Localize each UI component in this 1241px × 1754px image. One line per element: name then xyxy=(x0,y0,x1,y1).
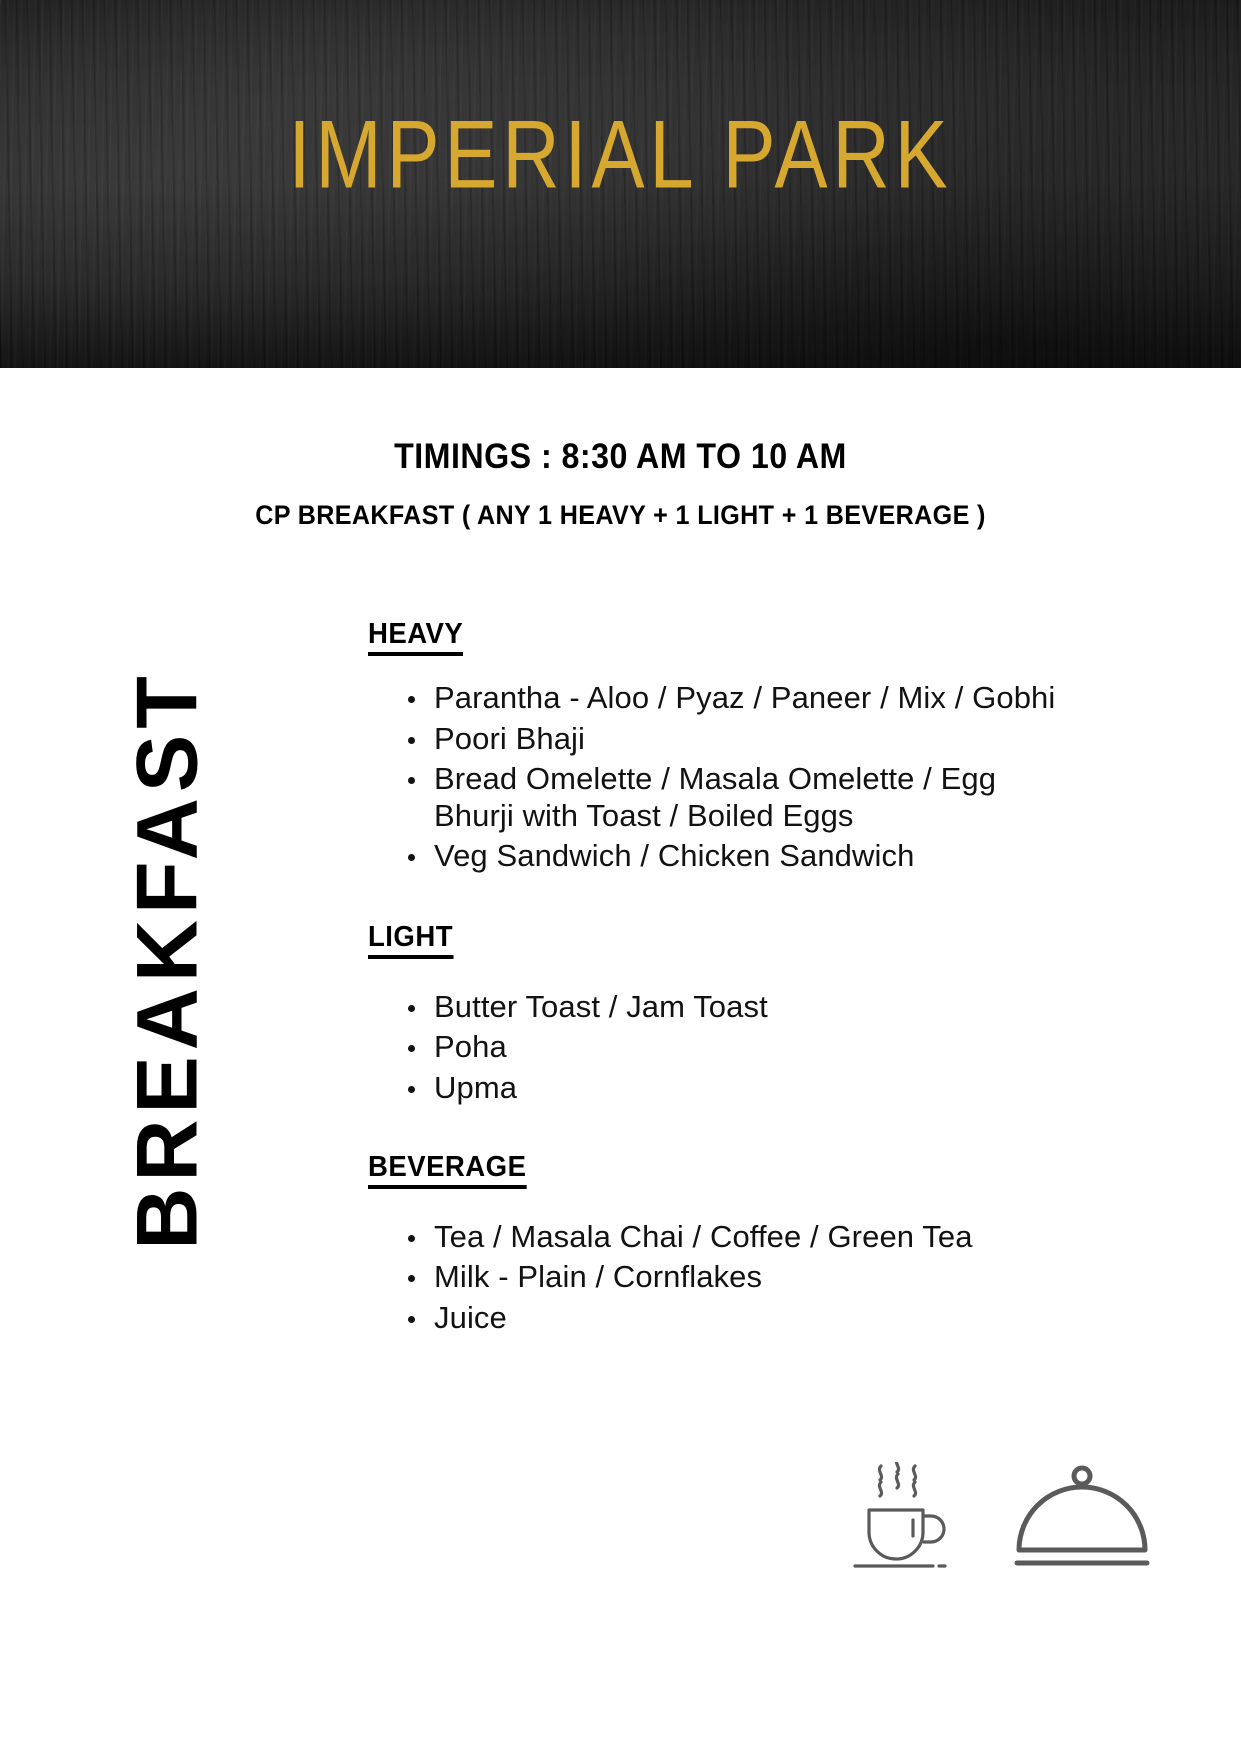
header-banner: IMPERIAL PARK xyxy=(0,0,1241,368)
cloche-food-dome-icon xyxy=(1011,1464,1153,1574)
item-list-heavy: Parantha - Aloo / Pyaz / Paneer / Mix / … xyxy=(368,680,1068,875)
item-list-light: Butter Toast / Jam Toast Poha Upma xyxy=(368,989,1068,1107)
list-item: Milk - Plain / Cornflakes xyxy=(402,1259,1068,1296)
section-heading-beverage: BEVERAGE xyxy=(368,1151,526,1189)
list-item: Poori Bhaji xyxy=(402,721,1068,758)
vertical-label-container: BREAKFAST xyxy=(108,630,228,1290)
section-heavy: HEAVY Parantha - Aloo / Pyaz / Paneer / … xyxy=(368,618,1068,875)
list-item: Veg Sandwich / Chicken Sandwich xyxy=(402,838,1068,875)
section-heading-heavy: HEAVY xyxy=(368,618,463,656)
list-item: Poha xyxy=(402,1029,1068,1066)
list-item: Upma xyxy=(402,1070,1068,1107)
coffee-cup-icon xyxy=(849,1462,949,1574)
item-list-beverage: Tea / Masala Chai / Coffee / Green Tea M… xyxy=(368,1219,1068,1337)
vertical-breakfast-label: BREAKFAST xyxy=(119,670,218,1250)
brand-title: IMPERIAL PARK xyxy=(19,100,1223,211)
list-item: Tea / Masala Chai / Coffee / Green Tea xyxy=(402,1219,1068,1256)
list-item: Juice xyxy=(402,1300,1068,1337)
section-heading-light: LIGHT xyxy=(368,921,453,959)
list-item: Bread Omelette / Masala Omelette / Egg B… xyxy=(402,761,1068,834)
list-item: Parantha - Aloo / Pyaz / Paneer / Mix / … xyxy=(402,680,1068,717)
timings-text: TIMINGS : 8:30 AM TO 10 AM xyxy=(50,437,1192,477)
menu-sections: HEAVY Parantha - Aloo / Pyaz / Paneer / … xyxy=(368,618,1068,1340)
section-light: LIGHT Butter Toast / Jam Toast Poha Upma xyxy=(368,921,1068,1107)
footer-icon-group xyxy=(849,1462,1153,1574)
list-item: Butter Toast / Jam Toast xyxy=(402,989,1068,1026)
cp-breakfast-text: CP BREAKFAST ( ANY 1 HEAVY + 1 LIGHT + 1… xyxy=(43,500,1197,531)
section-beverage: BEVERAGE Tea / Masala Chai / Coffee / Gr… xyxy=(368,1151,1068,1337)
menu-page: IMPERIAL PARK TIMINGS : 8:30 AM TO 10 AM… xyxy=(0,0,1241,1754)
